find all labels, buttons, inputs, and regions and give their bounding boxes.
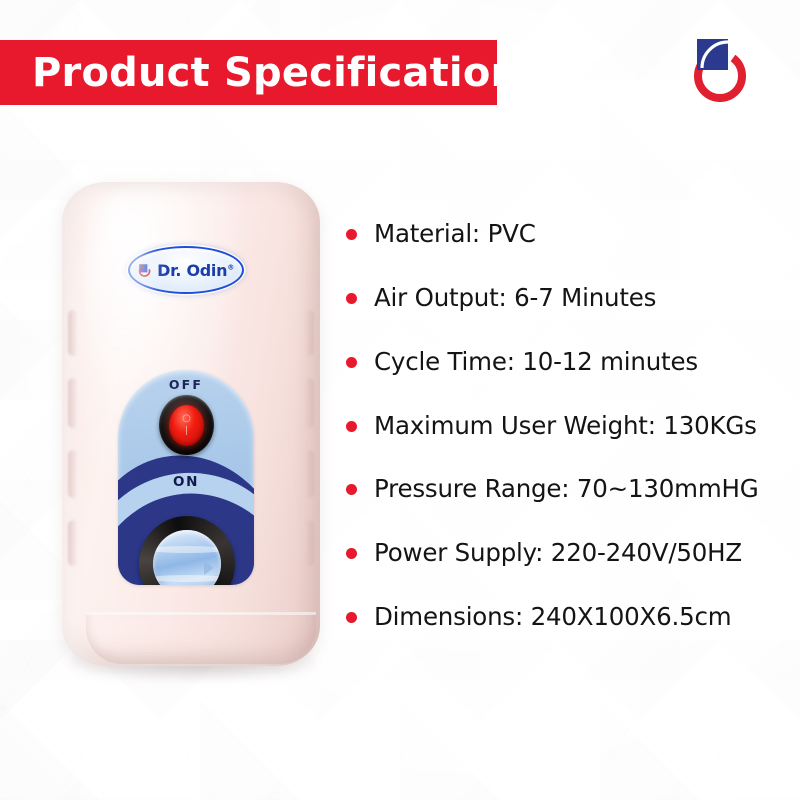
spec-label: Air Output: 6-7 Minutes xyxy=(374,282,656,314)
grip-notch xyxy=(304,520,314,566)
power-off-glyph-icon: ○ xyxy=(182,414,191,424)
spec-item: Maximum User Weight: 130KGs xyxy=(346,410,776,442)
bullet-icon xyxy=(346,421,357,432)
bullet-icon xyxy=(346,612,357,623)
spec-label: Pressure Range: 70~130mmHG xyxy=(374,473,759,505)
power-switch-face[interactable]: ○ ❘ xyxy=(169,405,204,446)
spec-item: Cycle Time: 10-12 minutes xyxy=(346,346,776,378)
spec-label: Power Supply: 220-240V/50HZ xyxy=(374,537,742,569)
grip-notch xyxy=(304,450,314,498)
power-switch[interactable]: ○ ❘ xyxy=(159,395,214,455)
page-title: Product Specification xyxy=(32,50,519,96)
bullet-icon xyxy=(346,484,357,495)
dial-band xyxy=(153,546,221,553)
specification-list: Material: PVC Air Output: 6-7 Minutes Cy… xyxy=(346,218,776,633)
spec-item: Dimensions: 240X100X6.5cm xyxy=(346,601,776,633)
switch-label-off: OFF xyxy=(118,377,254,392)
spec-item: Pressure Range: 70~130mmHG xyxy=(346,473,776,505)
dial-arrow-icon xyxy=(204,561,214,575)
bullet-icon xyxy=(346,548,357,559)
bullet-icon xyxy=(346,293,357,304)
spec-label: Dimensions: 240X100X6.5cm xyxy=(374,601,731,633)
brand-badge: Dr. Odin® xyxy=(128,246,244,294)
control-panel: OFF ○ ❘ ON xyxy=(118,370,254,585)
grip-notch xyxy=(68,520,78,566)
product-image: Dr. Odin® OFF ○ ❘ ON xyxy=(52,178,337,683)
device-housing: Dr. Odin® OFF ○ ❘ ON xyxy=(62,182,320,666)
pressure-dial-face[interactable] xyxy=(153,530,221,585)
spec-item: Air Output: 6-7 Minutes xyxy=(346,282,776,314)
spec-label: Cycle Time: 10-12 minutes xyxy=(374,346,698,378)
bullet-icon xyxy=(346,357,357,368)
spec-label: Material: PVC xyxy=(374,218,536,250)
grip-notch xyxy=(68,378,78,428)
grip-notch xyxy=(304,310,314,356)
power-on-glyph-icon: ❘ xyxy=(183,427,191,436)
spec-item: Material: PVC xyxy=(346,218,776,250)
made-in-china-logo-icon xyxy=(686,32,758,104)
brand-mini-logo-icon xyxy=(138,263,153,278)
grip-notch xyxy=(68,450,78,498)
spec-item: Power Supply: 220-240V/50HZ xyxy=(346,537,776,569)
grip-notch xyxy=(304,378,314,428)
bullet-icon xyxy=(346,229,357,240)
brand-name: Dr. Odin® xyxy=(157,261,234,280)
page-title-banner: Product Specification xyxy=(0,40,497,105)
dial-band xyxy=(153,575,221,582)
switch-label-on: ON xyxy=(118,474,254,490)
device-bottom-lip xyxy=(86,612,316,664)
spec-label: Maximum User Weight: 130KGs xyxy=(374,410,757,442)
grip-notch xyxy=(68,310,78,356)
